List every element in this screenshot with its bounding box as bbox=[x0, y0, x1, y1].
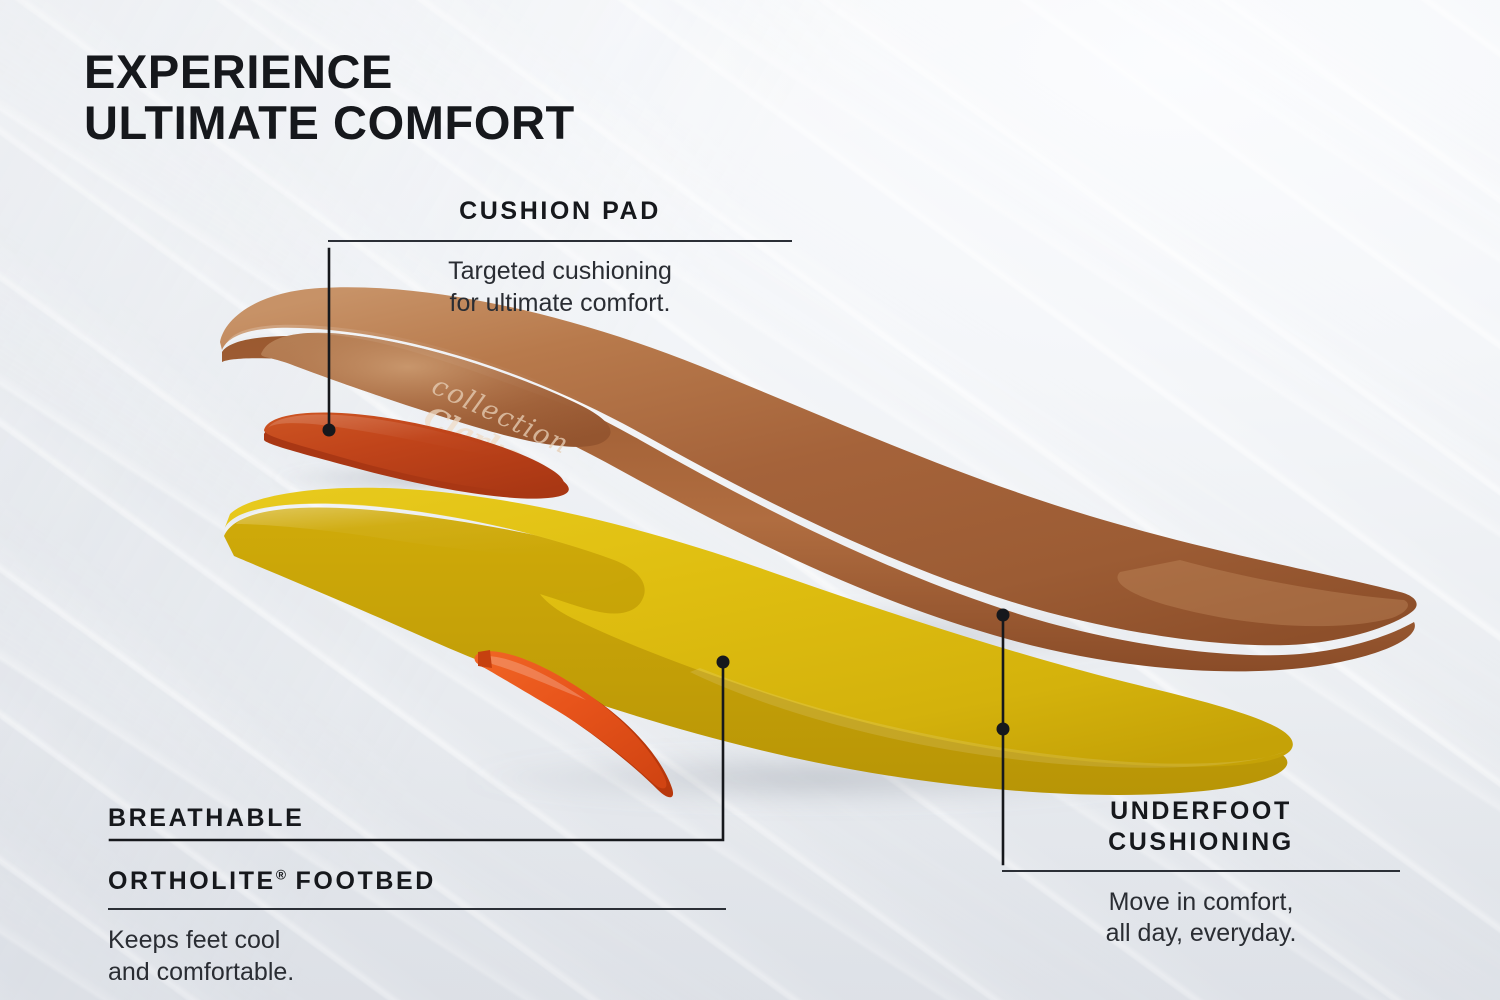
callout-ortholite-title-line1: BREATHABLE bbox=[108, 804, 304, 832]
infographic-canvas: Experience Ultimate Comfort bbox=[0, 0, 1500, 1000]
callout-cushion-pad-body: Targeted cushioning for ultimate comfort… bbox=[328, 256, 792, 319]
callout-ortholite-footbed-rule bbox=[108, 908, 726, 910]
leader-dot-underfoot-brown bbox=[997, 609, 1010, 622]
callout-ortholite-footbed-title: BREATHABLE ORTHOLITE® FOOTBED bbox=[108, 772, 726, 897]
callout-underfoot-cushioning-body: Move in comfort, all day, everyday. bbox=[1002, 887, 1400, 950]
callout-cushion-pad: CUSHION PAD Targeted cushioning for ulti… bbox=[328, 196, 792, 319]
leader-dot-ortholite-footbed bbox=[717, 656, 730, 669]
callout-underfoot-cushioning: UNDERFOOT CUSHIONING Move in comfort, al… bbox=[1002, 796, 1400, 950]
callout-ortholite-footbed: BREATHABLE ORTHOLITE® FOOTBED Keeps feet… bbox=[108, 772, 726, 988]
callout-ortholite-title-line3: FOOTBED bbox=[286, 867, 436, 895]
arch-support-wedge-cap bbox=[478, 650, 492, 668]
callout-underfoot-cushioning-rule bbox=[1002, 870, 1400, 872]
registered-trademark-icon: ® bbox=[276, 867, 286, 882]
callout-cushion-pad-title: CUSHION PAD bbox=[328, 196, 792, 227]
leader-dot-cushion-pad bbox=[323, 424, 336, 437]
callout-ortholite-title-line2: ORTHOLITE bbox=[108, 867, 276, 895]
callout-ortholite-footbed-body: Keeps feet cool and comfortable. bbox=[108, 925, 726, 988]
callout-underfoot-cushioning-title: UNDERFOOT CUSHIONING bbox=[1002, 796, 1400, 859]
leader-dot-underfoot-yellow bbox=[997, 723, 1010, 736]
callout-cushion-pad-rule bbox=[328, 240, 792, 242]
